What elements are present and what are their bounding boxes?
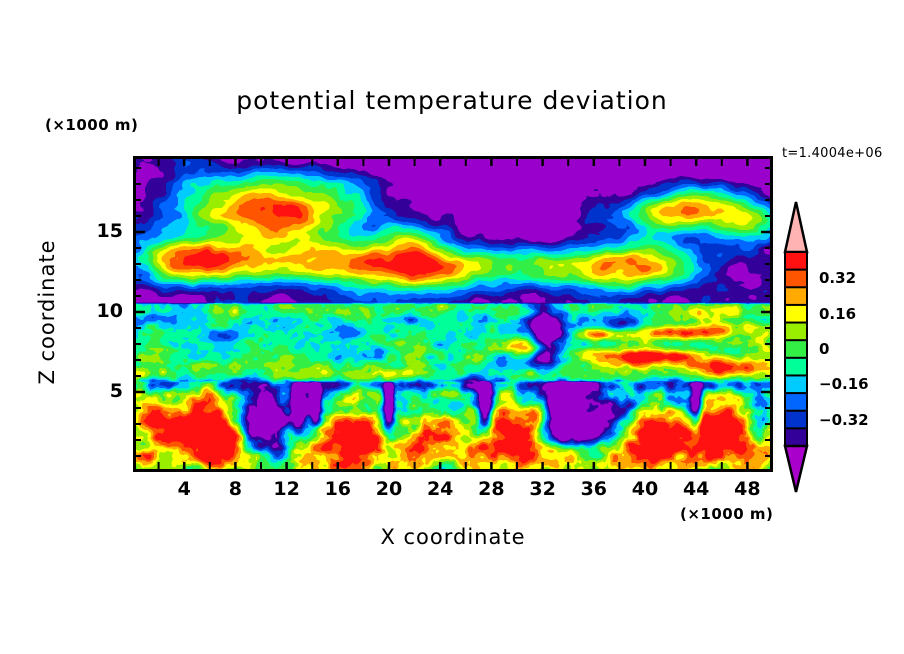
x-tick-label: 44 [676, 478, 716, 500]
colorbar-tick-label: −0.16 [819, 375, 869, 393]
colorbar-tick-label: 0.32 [819, 269, 856, 287]
x-tick-label: 40 [625, 478, 665, 500]
x-tick-label: 36 [574, 478, 614, 500]
x-tick-label: 20 [369, 478, 409, 500]
x-tick-label: 48 [727, 478, 767, 500]
y-tick-label: 10 [85, 300, 123, 322]
y-tick-label: 15 [85, 220, 123, 242]
x-tick-label: 16 [318, 478, 358, 500]
time-annotation: t=1.4004e+06 [782, 146, 883, 161]
y-axis-title: Z coordinate [35, 232, 59, 392]
y-axis-unit-label: (×1000 m) [45, 116, 138, 134]
x-tick-label: 32 [523, 478, 563, 500]
x-tick-label: 28 [471, 478, 511, 500]
colorbar-tick-label: −0.32 [819, 411, 869, 429]
colorbar [781, 200, 811, 490]
x-tick-label: 8 [215, 478, 255, 500]
contour-plot [133, 156, 773, 472]
x-axis-title: X coordinate [133, 525, 773, 549]
x-axis-unit-label: (×1000 m) [680, 505, 773, 523]
y-tick-label: 5 [85, 380, 123, 402]
x-tick-label: 12 [267, 478, 307, 500]
colorbar-tick-label: 0 [819, 340, 829, 358]
colorbar-tick-label: 0.16 [819, 305, 856, 323]
x-tick-label: 24 [420, 478, 460, 500]
x-tick-label: 4 [164, 478, 204, 500]
chart-title: potential temperature deviation [0, 86, 904, 115]
